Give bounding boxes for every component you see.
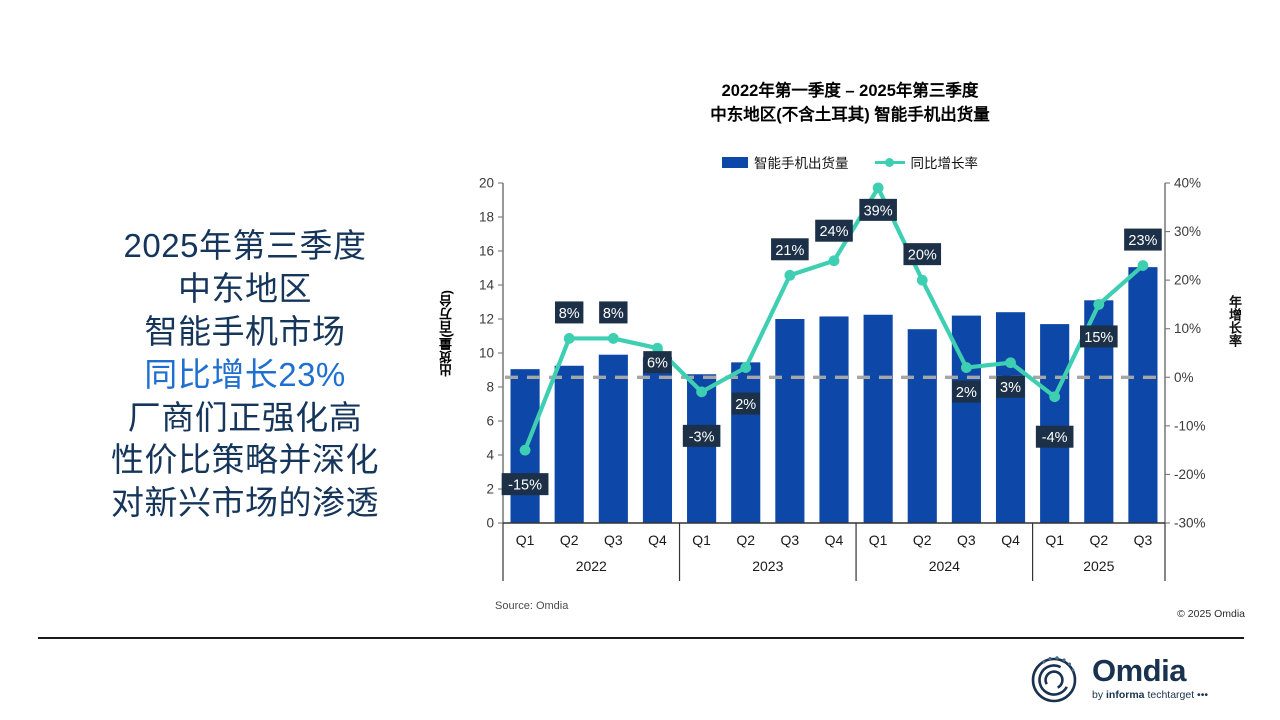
legend-item-growth: 同比增长率 [875,152,979,172]
chart-title-line-1: 2022年第一季度 – 2025年第三季度 [455,80,1245,104]
data-label-2: 8% [599,301,627,323]
svg-text:24%: 24% [819,224,848,240]
bar-Q2-2023 [731,362,760,523]
growth-point-11 [1005,357,1016,368]
legend-item-shipments: 智能手机出货量 [722,152,849,172]
svg-text:6%: 6% [647,356,668,372]
growth-point-13 [1093,299,1104,310]
growth-point-7 [829,255,840,266]
y-axis-left-tick-label: 16 [479,244,494,259]
growth-point-6 [784,270,795,281]
x-tick-label-10: Q3 [957,532,976,548]
omdia-wordmark: Omdia [1092,655,1208,686]
legend-label-growth: 同比增长率 [911,152,979,172]
growth-point-4 [696,386,707,397]
footer-divider [38,637,1244,639]
headline-block: 2025年第三季度中东地区智能手机市场同比增长23%厂商们正强化高性价比策略并深… [40,225,450,525]
bar-Q3-2022 [599,355,628,523]
year-label-2022: 2022 [576,558,607,574]
omdia-logo: Omdia by informa techtarget ••• [1030,650,1250,708]
growth-point-10 [961,362,972,373]
copyright-note: © 2025 Omdia [1177,608,1245,620]
svg-text:-4%: -4% [1042,430,1068,446]
x-tick-label-9: Q2 [913,532,932,548]
data-label-11: 3% [996,376,1024,398]
svg-text:-3%: -3% [689,429,715,445]
x-tick-label-4: Q1 [692,532,711,548]
y-axis-left-tick-label: 14 [479,278,495,293]
x-tick-label-12: Q1 [1045,532,1064,548]
source-note: Source: Omdia [495,600,568,612]
y-axis-left-tick-label: 6 [486,414,494,429]
year-label-2024: 2024 [929,558,960,574]
headline-line-2: 中东地区 [40,268,450,311]
growth-point-0 [520,445,531,456]
y-axis-right-tick-label: 20% [1174,273,1201,288]
growth-point-12 [1049,391,1060,402]
y-axis-left-tick-label: 12 [479,312,494,327]
data-label-3: 6% [643,351,671,373]
omdia-logo-mark-icon [1030,653,1082,705]
headline-line-5: 厂商们正强化高 [40,397,450,440]
x-tick-label-7: Q4 [825,532,844,548]
chart-panel: 2022年第一季度 – 2025年第三季度 中东地区(不含土耳其) 智能手机出货… [455,70,1245,630]
y-axis-right-tick-label: 10% [1174,321,1201,336]
svg-text:39%: 39% [864,203,893,219]
x-tick-label-1: Q2 [560,532,579,548]
growth-point-1 [564,333,575,344]
growth-point-5 [740,362,751,373]
year-label-2023: 2023 [752,558,783,574]
headline-line-3: 智能手机市场 [40,311,450,354]
data-label-7: 24% [815,220,853,242]
x-tick-label-11: Q4 [1001,532,1020,548]
bar-Q2-2024 [908,329,937,523]
svg-text:8%: 8% [559,306,580,322]
bar-Q2-2022 [555,366,584,523]
y-axis-left-tick-label: 10 [479,346,494,361]
year-label-2025: 2025 [1083,558,1114,574]
bar-Q4-2024 [996,312,1025,523]
y-axis-right-tick-label: -30% [1174,516,1206,531]
x-tick-label-14: Q3 [1134,532,1153,548]
data-label-4: -3% [683,425,721,447]
legend-line-swatch-icon [875,157,905,168]
chart-title-line-2: 中东地区(不含土耳其) 智能手机出货量 [455,104,1245,128]
y-axis-left-title: 出货量(百万台) [437,290,456,377]
legend-label-shipments: 智能手机出货量 [754,152,849,172]
y-axis-left-tick-label: 18 [479,210,494,225]
svg-text:2%: 2% [735,397,756,413]
y-axis-right-tick-label: -10% [1174,418,1206,433]
bar-Q1-2024 [864,315,893,523]
y-axis-right-tick-label: 0% [1174,370,1194,385]
data-label-9: 20% [903,243,941,265]
x-tick-label-3: Q4 [648,532,667,548]
y-axis-right-tick-label: -20% [1174,467,1206,482]
data-label-8: 39% [859,199,897,221]
svg-text:-15%: -15% [508,478,542,494]
chart-svg: 02468101214161820-30%-20%-10%0%10%20%30%… [455,175,1245,595]
svg-text:20%: 20% [908,248,937,264]
bar-Q4-2023 [819,316,848,523]
x-tick-label-6: Q3 [781,532,800,548]
chart-title: 2022年第一季度 – 2025年第三季度 中东地区(不含土耳其) 智能手机出货… [455,80,1245,128]
y-axis-right-tick-label: 40% [1174,176,1201,191]
headline-line-6: 性价比策略并深化 [40,439,450,482]
y-axis-left-tick-label: 8 [486,380,494,395]
svg-text:3%: 3% [1000,380,1021,396]
svg-text:8%: 8% [603,306,624,322]
omdia-logo-text: Omdia by informa techtarget ••• [1092,655,1208,703]
y-axis-left-tick-label: 0 [486,516,494,531]
data-label-12: -4% [1036,426,1074,448]
y-axis-right-tick-label: 30% [1174,224,1201,239]
headline-line-1: 2025年第三季度 [40,225,450,268]
growth-point-9 [917,275,928,286]
bar-Q4-2022 [643,357,672,523]
x-tick-label-8: Q1 [869,532,888,548]
x-tick-label-5: Q2 [736,532,755,548]
data-label-14: 23% [1124,229,1162,251]
growth-point-2 [608,333,619,344]
x-tick-label-2: Q3 [604,532,623,548]
headline-line-7: 对新兴市场的渗透 [40,482,450,525]
bar-Q1-2025 [1040,324,1069,523]
omdia-tagline: by informa techtarget ••• [1092,688,1208,703]
data-label-5: 2% [732,393,760,415]
x-tick-label-13: Q2 [1089,532,1108,548]
data-label-10: 2% [952,381,980,403]
y-axis-left-tick-label: 20 [479,176,494,191]
data-label-0: -15% [502,473,549,495]
svg-text:15%: 15% [1084,330,1113,346]
growth-point-8 [873,182,884,193]
x-tick-label-0: Q1 [516,532,535,548]
slide-root: 2025年第三季度中东地区智能手机市场同比增长23%厂商们正强化高性价比策略并深… [0,0,1280,720]
data-label-13: 15% [1080,325,1118,347]
data-label-6: 21% [771,238,809,260]
svg-text:2%: 2% [956,385,977,401]
chart-legend: 智能手机出货量 同比增长率 [455,152,1245,172]
bar-Q3-2025 [1128,267,1157,523]
bar-Q3-2023 [775,319,804,523]
headline-line-4: 同比增长23% [40,354,450,397]
data-label-1: 8% [555,301,583,323]
y-axis-left-tick-label: 2 [486,482,494,497]
plot-area: 出货量(百万台) 年增长率 02468101214161820-30%-20%-… [455,175,1245,595]
growth-point-14 [1138,260,1149,271]
legend-bar-swatch-icon [722,157,748,168]
svg-text:21%: 21% [775,243,804,259]
y-axis-left-tick-label: 4 [486,448,494,463]
svg-text:23%: 23% [1128,233,1157,249]
